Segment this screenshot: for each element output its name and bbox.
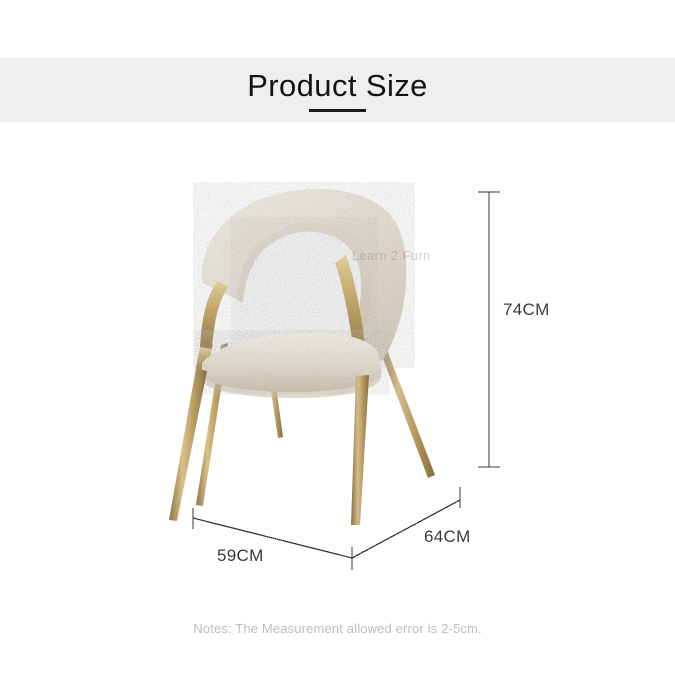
title-underline: [309, 109, 366, 112]
width-dimension-label: 59CM: [217, 546, 264, 566]
height-dimension-label: 74CM: [503, 300, 550, 320]
chair-arm-left: [200, 281, 228, 349]
chair-leg-rear-right: [376, 340, 435, 478]
product-size-infographic: Product Size: [0, 0, 675, 675]
page-title: Product Size: [0, 66, 675, 106]
depth-dimension-label: 64CM: [424, 527, 471, 547]
chair-leg-front-right: [351, 375, 369, 525]
measurement-note: Notes: The Measurement allowed error is …: [0, 621, 675, 636]
chair-product-image: [150, 175, 480, 535]
chair-seat-cushion: [202, 333, 382, 392]
